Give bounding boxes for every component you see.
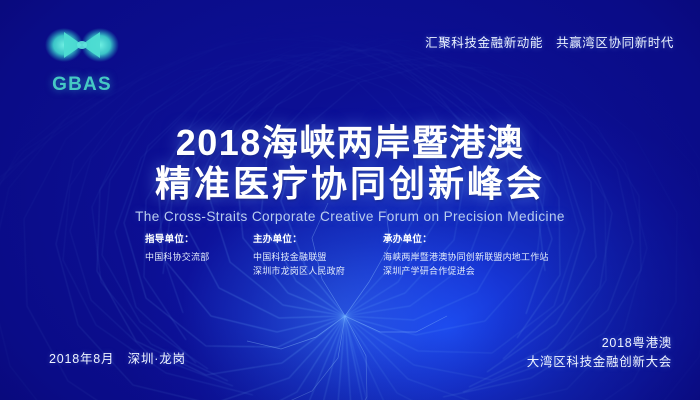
title-block: 2018海峡两岸暨港澳 精准医疗协同创新峰会 The Cross-Straits… <box>0 122 700 224</box>
event-poster: GBAS 汇聚科技金融新动能 共赢湾区协同新时代 2018海峡两岸暨港澳 精准医… <box>0 0 700 400</box>
title-line-2: 精准医疗协同创新峰会 <box>0 163 700 204</box>
footer-date-location: 2018年8月 深圳·龙岗 <box>49 348 186 367</box>
organizer-item: 中国科协交流部 <box>145 250 253 264</box>
subtitle-english: The Cross-Straits Corporate Creative For… <box>0 209 700 224</box>
organizer-column-guiding: 指导单位： 中国科协交流部 <box>145 231 253 264</box>
footer-right-line-1: 2018粤港澳 <box>527 334 672 353</box>
organizer-heading: 指导单位： <box>145 231 253 245</box>
gbas-logo-text: GBAS <box>34 74 130 96</box>
title-line-1: 2018海峡两岸暨港澳 <box>0 122 700 163</box>
gbas-logo: GBAS <box>34 24 130 96</box>
gbas-bowtie-logo-icon <box>34 24 130 68</box>
footer-conference-name: 2018粤港澳 大湾区科技金融创新大会 <box>527 334 672 372</box>
organizer-column-host: 主办单位： 中国科技金融联盟 深圳市龙岗区人民政府 <box>253 231 383 278</box>
organizer-column-undertaker: 承办单位： 海峡两岸暨港澳协同创新联盟内地工作站 深圳产学研合作促进会 <box>383 231 585 278</box>
organizer-item: 中国科技金融联盟 <box>253 250 383 264</box>
footer-right-line-2: 大湾区科技金融创新大会 <box>527 353 672 372</box>
organizer-item: 海峡两岸暨港澳协同创新联盟内地工作站 <box>383 250 585 264</box>
organizer-item: 深圳市龙岗区人民政府 <box>253 264 383 278</box>
organizer-heading: 主办单位： <box>253 231 383 245</box>
organizer-columns: 指导单位： 中国科协交流部 主办单位： 中国科技金融联盟 深圳市龙岗区人民政府 … <box>145 231 585 278</box>
organizer-heading: 承办单位： <box>383 231 585 245</box>
organizer-item: 深圳产学研合作促进会 <box>383 264 585 278</box>
top-tagline: 汇聚科技金融新动能 共赢湾区协同新时代 <box>425 32 674 51</box>
